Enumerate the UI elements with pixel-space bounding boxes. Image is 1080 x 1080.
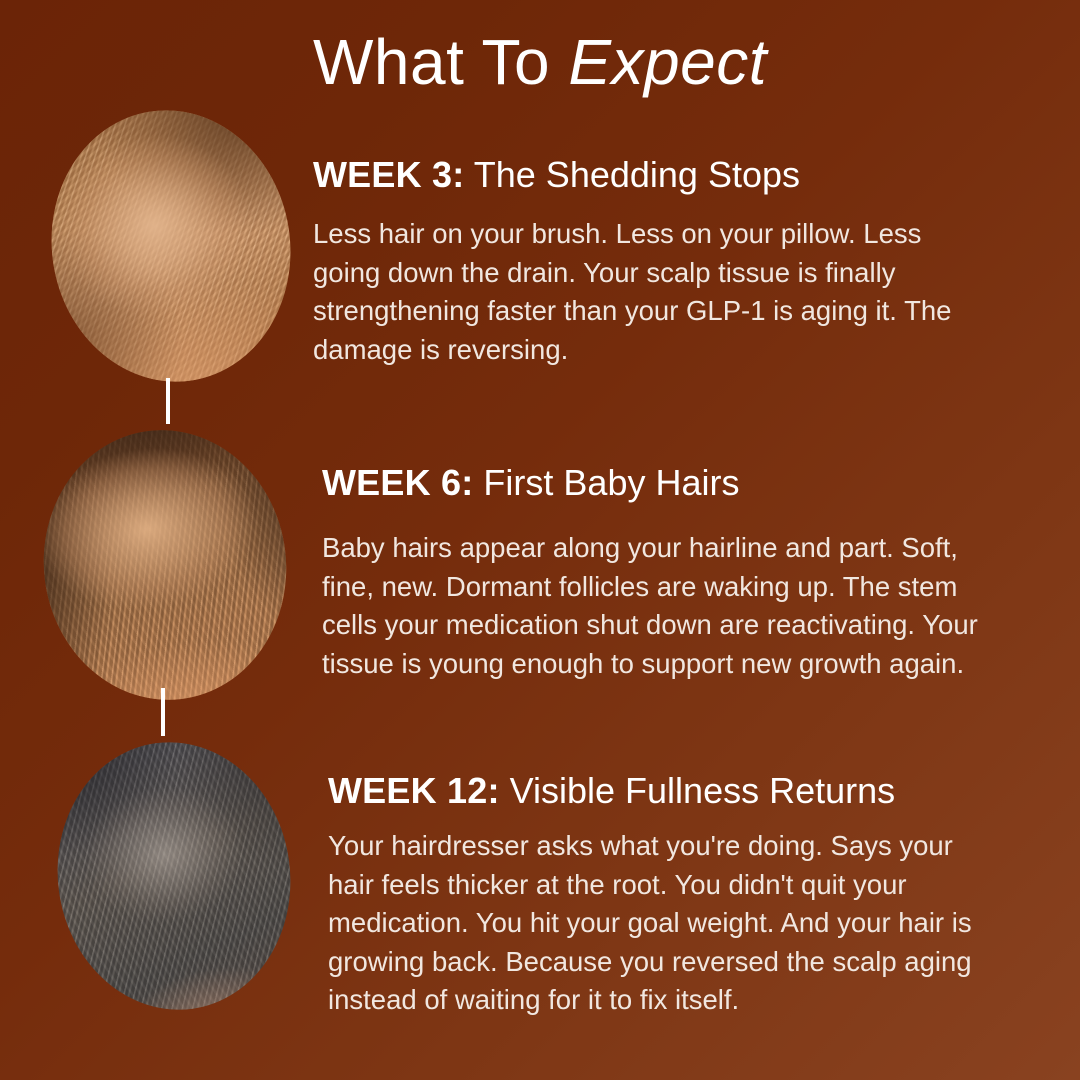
section-week12-week-title: Visible Fullness Returns (500, 770, 896, 811)
photo-week12-image (40, 727, 307, 1025)
section-week6-week-title: First Baby Hairs (473, 462, 739, 503)
photo-week6 (28, 416, 301, 713)
section-week6-body: Baby hairs appear along your hairline an… (322, 529, 988, 683)
photo-week6-image (28, 416, 301, 713)
photo-week3 (32, 93, 310, 399)
section-week6: WEEK 6: First Baby Hairs Baby hairs appe… (322, 460, 1002, 683)
page-title-regular: What To (313, 26, 568, 98)
page-title: What To Expect (0, 30, 1080, 94)
section-week3-week-title: The Shedding Stops (464, 154, 800, 195)
section-week6-week-label: WEEK 6: (322, 462, 473, 503)
section-week3-heading: WEEK 3: The Shedding Stops (313, 152, 1003, 197)
section-week12: WEEK 12: Visible Fullness Returns Your h… (328, 768, 1008, 1020)
section-week12-week-label: WEEK 12: (328, 770, 500, 811)
section-week3-week-label: WEEK 3: (313, 154, 464, 195)
photo-week3-image (32, 93, 310, 399)
photo-week12 (40, 727, 307, 1025)
connector-line-2 (161, 688, 165, 736)
section-week3-body: Less hair on your brush. Less on your pi… (313, 215, 985, 369)
section-week6-heading: WEEK 6: First Baby Hairs (322, 460, 1002, 505)
section-week12-heading: WEEK 12: Visible Fullness Returns (328, 768, 1008, 813)
section-week12-body: Your hairdresser asks what you're doing.… (328, 827, 992, 1020)
page-title-italic: Expect (568, 26, 767, 98)
section-week3: WEEK 3: The Shedding Stops Less hair on … (313, 152, 1003, 369)
connector-line-1 (166, 378, 170, 424)
infographic-poster: What To Expect WEEK 3: The Shedding Stop… (0, 0, 1080, 1080)
